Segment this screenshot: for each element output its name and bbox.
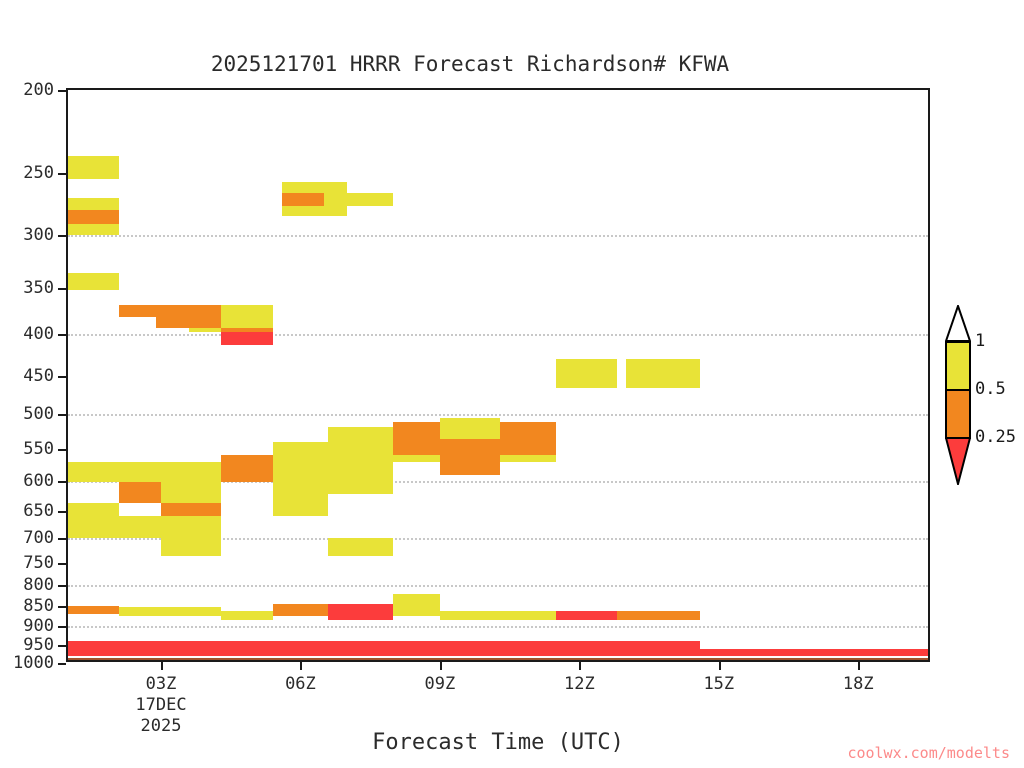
y-axis-tick-mark — [58, 376, 66, 378]
x-axis-tick-label: 15Z — [703, 674, 734, 694]
y-axis-tick-mark — [58, 414, 66, 416]
colorbar-tick-label: 0.5 — [975, 379, 1006, 399]
data-block — [68, 198, 119, 210]
colorbar-divider — [945, 389, 971, 391]
y-axis-tick-mark — [58, 481, 66, 483]
y-axis-tick-label: 200 — [23, 80, 54, 100]
y-axis-tick-mark — [58, 663, 66, 665]
terrain-band — [68, 658, 928, 660]
gridline — [68, 414, 928, 416]
x-axis-tick-label: 03Z — [146, 674, 177, 694]
chart-root: 2025121701 HRRR Forecast Richardson# KFW… — [0, 0, 1024, 768]
x-axis-tick-label: 12Z — [564, 674, 595, 694]
y-axis-tick-label: 450 — [23, 366, 54, 386]
gridline — [68, 334, 928, 336]
x-axis-tick-mark — [719, 662, 721, 670]
data-block — [68, 516, 221, 538]
data-block — [282, 206, 347, 216]
data-block — [221, 332, 272, 345]
y-axis-tick-mark — [58, 538, 66, 540]
data-block — [68, 210, 119, 224]
data-block — [161, 482, 221, 504]
y-axis-tick-mark — [58, 334, 66, 336]
colorbar-segment-yellow[interactable] — [945, 341, 971, 389]
y-axis-tick-label: 1000 — [13, 653, 54, 673]
colorbar-arrow-top-outline — [945, 305, 971, 345]
data-block — [119, 462, 161, 482]
data-block — [556, 359, 616, 388]
y-axis-tick-mark — [58, 563, 66, 565]
data-block — [161, 462, 221, 482]
data-block — [273, 604, 329, 616]
data-block — [68, 649, 928, 656]
y-axis-tick-label: 750 — [23, 553, 54, 573]
y-axis-tick-label: 900 — [23, 616, 54, 636]
watermark: coolwx.com/modelts — [0, 744, 1010, 762]
gridline — [68, 626, 928, 628]
gridline — [68, 585, 928, 587]
data-block — [328, 427, 393, 482]
y-axis-tick-mark — [58, 90, 66, 92]
y-axis-tick-label: 500 — [23, 404, 54, 424]
y-axis-tick-label: 400 — [23, 324, 54, 344]
y-axis-tick-label: 250 — [23, 163, 54, 183]
colorbar-tick-label: 1 — [975, 331, 985, 351]
data-block — [68, 273, 119, 290]
data-block — [156, 317, 221, 329]
y-axis-tick-mark — [58, 173, 66, 175]
y-axis-tick-label: 650 — [23, 501, 54, 521]
chart-title: 2025121701 HRRR Forecast Richardson# KFW… — [0, 52, 940, 76]
data-block — [68, 462, 119, 482]
data-block — [119, 482, 161, 504]
data-block — [328, 482, 393, 495]
y-axis-tick-mark — [58, 606, 66, 608]
y-axis-tick-mark — [58, 585, 66, 587]
data-block — [68, 224, 119, 235]
data-block — [617, 611, 701, 620]
data-block — [221, 611, 272, 620]
data-block — [221, 455, 272, 481]
data-block — [556, 611, 616, 620]
x-axis-tick-mark — [579, 662, 581, 670]
y-axis-tick-mark — [58, 449, 66, 451]
y-axis-tick-label: 350 — [23, 278, 54, 298]
colorbar-divider — [945, 341, 971, 343]
y-axis-tick-label: 700 — [23, 528, 54, 548]
data-block — [440, 418, 500, 439]
data-block — [440, 611, 556, 620]
x-axis-tick-label: 06Z — [285, 674, 316, 694]
y-axis-tick-label: 300 — [23, 225, 54, 245]
data-block — [324, 193, 394, 207]
y-axis-tick-mark — [58, 645, 66, 647]
data-block — [189, 328, 222, 332]
data-block — [119, 607, 221, 616]
data-block — [68, 503, 119, 516]
x-axis-date-label: 17DEC 2025 — [135, 695, 186, 737]
data-block — [161, 538, 221, 556]
y-axis-tick-label: 600 — [23, 471, 54, 491]
y-axis-tick-mark — [58, 235, 66, 237]
data-block — [393, 455, 439, 461]
x-axis-tick-mark — [440, 662, 442, 670]
data-block — [273, 482, 329, 517]
data-block — [328, 604, 393, 620]
data-block — [393, 594, 439, 616]
data-block — [161, 503, 221, 516]
plot-inner — [68, 90, 928, 660]
data-block — [440, 439, 500, 475]
x-axis-tick-label: 18Z — [843, 674, 874, 694]
x-axis-tick-label: 09Z — [425, 674, 456, 694]
plot-area[interactable] — [66, 88, 930, 662]
y-axis-tick-label: 550 — [23, 439, 54, 459]
gridline — [68, 235, 928, 237]
y-axis-tick-mark — [58, 626, 66, 628]
x-axis-tick-mark — [161, 662, 163, 670]
data-block — [273, 442, 329, 482]
colorbar-segment-orange[interactable] — [945, 389, 971, 437]
data-block — [282, 193, 324, 207]
data-block — [393, 422, 439, 455]
y-axis-tick-label: 950 — [23, 635, 54, 655]
x-axis-tick-mark — [300, 662, 302, 670]
data-block — [626, 359, 700, 388]
y-axis-tick-label: 850 — [23, 596, 54, 616]
x-axis-tick-mark — [858, 662, 860, 670]
y-axis-tick-mark — [58, 511, 66, 513]
colorbar-arrow-bottom — [945, 437, 971, 489]
data-block — [68, 156, 119, 179]
data-block — [328, 538, 393, 556]
data-block — [500, 422, 556, 455]
data-block — [221, 305, 272, 329]
data-block — [119, 305, 221, 317]
y-axis-tick-mark — [58, 288, 66, 290]
y-axis-tick-label: 800 — [23, 575, 54, 595]
colorbar-tick-label: 0.25 — [975, 427, 1016, 447]
data-block — [282, 182, 347, 193]
data-block — [500, 455, 556, 461]
data-block — [68, 606, 119, 614]
